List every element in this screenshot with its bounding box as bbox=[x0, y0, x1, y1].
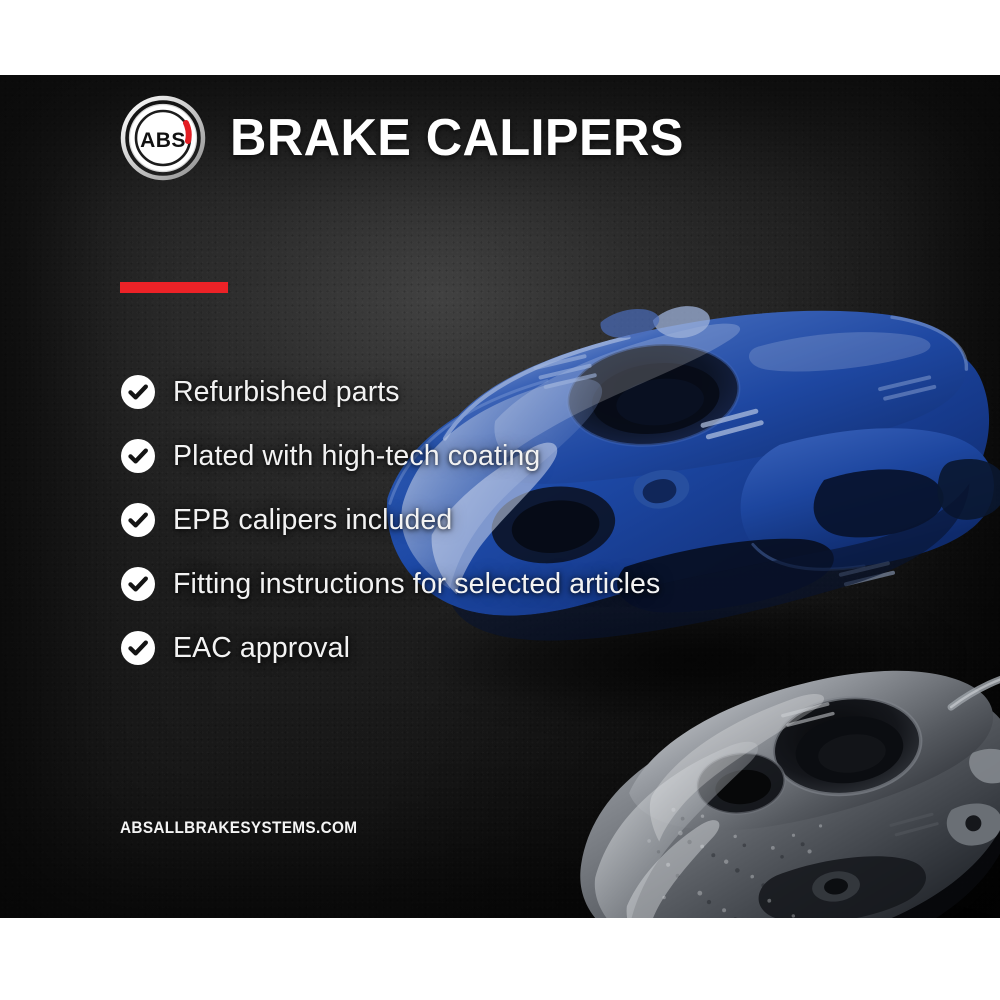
list-item-label: Fitting instructions for selected articl… bbox=[173, 568, 660, 601]
website-url: ABSALLBRAKESYSTEMS.COM bbox=[120, 819, 357, 838]
list-item: EPB calipers included bbox=[120, 502, 660, 538]
list-item: EAC approval bbox=[120, 630, 660, 666]
page-title: BRAKE CALIPERS bbox=[230, 112, 684, 164]
abs-roundel-logo-icon: ABS bbox=[120, 95, 206, 181]
svg-text:ABS: ABS bbox=[140, 129, 186, 152]
check-circle-icon bbox=[120, 566, 156, 602]
red-accent-rule bbox=[120, 282, 228, 293]
check-circle-icon bbox=[120, 438, 156, 474]
list-item-label: EAC approval bbox=[173, 632, 350, 665]
list-item-label: EPB calipers included bbox=[173, 504, 452, 537]
list-item-label: Plated with high-tech coating bbox=[173, 440, 540, 473]
banner-header: ABS BRAKE CALIPERS bbox=[120, 95, 698, 181]
list-item-label: Refurbished parts bbox=[173, 376, 400, 409]
list-item: Refurbished parts bbox=[120, 374, 660, 410]
grey-caliper-shadow bbox=[600, 913, 1000, 918]
list-item: Plated with high-tech coating bbox=[120, 438, 660, 474]
list-item: Fitting instructions for selected articl… bbox=[120, 566, 660, 602]
promo-banner: ABS BRAKE CALIPERS Refurbished parts bbox=[0, 0, 1000, 1000]
check-circle-icon bbox=[120, 374, 156, 410]
feature-list: Refurbished parts Plated with high-tech … bbox=[120, 374, 660, 666]
check-circle-icon bbox=[120, 502, 156, 538]
check-circle-icon bbox=[120, 630, 156, 666]
